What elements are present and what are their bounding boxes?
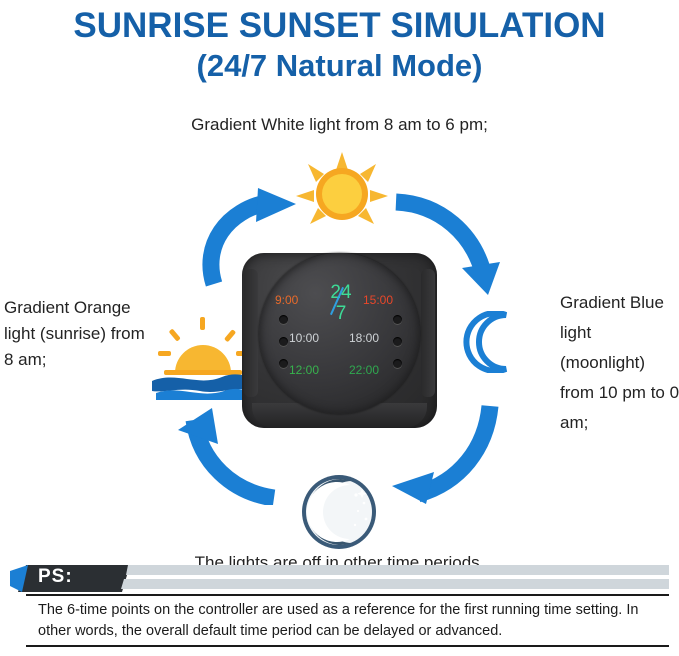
time-point-4[interactable]: 18:00: [349, 331, 379, 345]
ps-divider-bottom: [26, 645, 669, 647]
title-line-1: SUNRISE SUNSET SIMULATION: [0, 6, 679, 46]
page-title: SUNRISE SUNSET SIMULATION (24/7 Natural …: [0, 0, 679, 86]
controller-left-port: [244, 269, 258, 397]
moon-outline-icon: [462, 311, 524, 373]
caption-blue-light: Gradient Blue light (moonlight) from 10 …: [560, 288, 679, 438]
indicator-dot-left-2: [279, 337, 288, 346]
title-line-2: (24/7 Natural Mode): [0, 46, 679, 86]
indicator-dot-right-2: [393, 337, 402, 346]
indicator-dot-right-3: [393, 359, 402, 368]
controller-device[interactable]: 24 7 9:00 15:00 10:00 18:00 12:00 22:00: [242, 253, 437, 428]
controller-screen: 24 7 9:00 15:00 10:00 18:00 12:00 22:00: [267, 275, 412, 405]
ps-label: PS:: [38, 566, 73, 588]
mode-7: 7: [319, 304, 363, 323]
time-point-5[interactable]: 12:00: [289, 363, 319, 377]
indicator-dot-left-3: [279, 359, 288, 368]
ps-text: The 6-time points on the controller are …: [38, 600, 663, 642]
ps-banner: [10, 565, 669, 592]
indicator-dot-right-1: [393, 315, 402, 324]
sun-icon: [296, 152, 388, 230]
night-moon-icon: [300, 473, 378, 551]
caption-orange-light: Gradient Orange light (sunrise) from 8 a…: [4, 295, 149, 373]
sunrise-icon: [150, 315, 255, 400]
ps-divider-top: [26, 594, 669, 596]
indicator-dot-left-1: [279, 315, 288, 324]
controller-right-port: [421, 269, 435, 397]
time-point-6[interactable]: 22:00: [349, 363, 379, 377]
time-point-3[interactable]: 10:00: [289, 331, 319, 345]
mode-247-label: 24 7: [319, 283, 363, 323]
caption-white-light: Gradient White light from 8 am to 6 pm;: [0, 115, 679, 135]
time-point-1[interactable]: 9:00: [275, 293, 298, 307]
time-point-2[interactable]: 15:00: [363, 293, 393, 307]
